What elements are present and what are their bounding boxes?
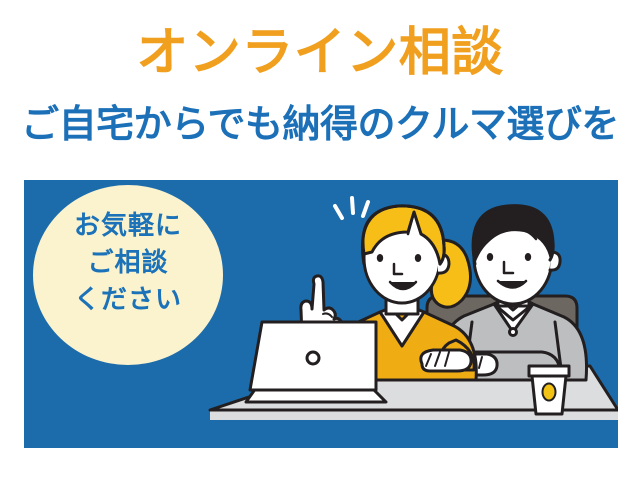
man-eye-left xyxy=(487,253,493,261)
man-shirt-button xyxy=(510,329,517,336)
bubble-line-3: ください xyxy=(33,282,223,319)
man-eye-right xyxy=(525,253,531,261)
online-consultation-banner: オンライン相談 ご自宅からでも納得のクルマ選びを xyxy=(0,0,640,480)
page-subtitle: ご自宅からでも納得のクルマ選びを xyxy=(0,104,640,146)
sparkle-icon-right xyxy=(363,202,368,216)
bubble-line-1: お気軽に xyxy=(33,208,223,245)
laptop-logo-icon xyxy=(307,352,319,364)
speech-bubble-text: お気軽に ご相談 ください xyxy=(33,208,223,319)
woman-eye-left xyxy=(377,254,383,262)
illustration-panel: お気軽に ご相談 ください xyxy=(24,180,618,448)
page-title: オンライン相談 xyxy=(0,26,640,81)
sparkle-icon-left xyxy=(335,206,342,218)
coffee-cup-lid xyxy=(529,366,569,376)
coffee-cup-logo-icon xyxy=(543,384,556,401)
sparkle-icon-mid xyxy=(352,198,353,213)
woman-eye-right xyxy=(415,254,421,262)
bubble-line-2: ご相談 xyxy=(33,245,223,282)
